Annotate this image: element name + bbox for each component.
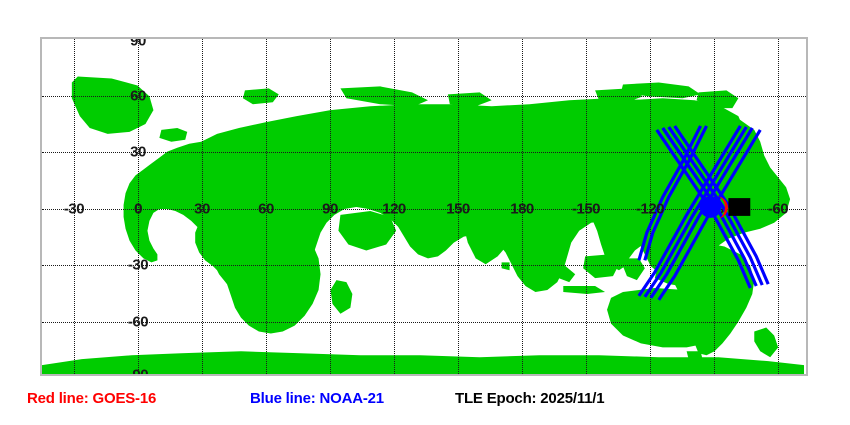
tick-lon-60: 60 — [258, 201, 274, 218]
greenland — [72, 77, 154, 134]
arctic-islands-russia — [340, 86, 428, 106]
landmass-layer — [42, 39, 806, 374]
tick-lon-120: 120 — [382, 201, 406, 218]
legend-tle-epoch: TLE Epoch: 2025/11/1 — [455, 390, 604, 407]
tick-lat--60: -60 — [128, 314, 148, 331]
legend-goes16: Red line: GOES-16 — [27, 390, 156, 407]
tick-lat-60: 60 — [130, 88, 146, 105]
tick-lon--150: -150 — [572, 201, 600, 218]
tick-lon--30: -30 — [64, 201, 84, 218]
tick-lon--90: -90 — [704, 201, 724, 218]
legend-noaa21: Blue line: NOAA-21 — [250, 390, 384, 407]
tick-lon-150: 150 — [446, 201, 470, 218]
tick-lon-30: 30 — [194, 201, 210, 218]
tick-lon--60: -60 — [768, 201, 788, 218]
tick-lat-90: 90 — [130, 37, 146, 50]
tick-lat--30: -30 — [128, 257, 148, 274]
svalbard — [243, 88, 279, 104]
iceland — [159, 128, 187, 142]
tick-lat--90: -90 — [128, 367, 148, 377]
hispaniola — [685, 233, 701, 239]
tick-lat-30: 30 — [130, 144, 146, 161]
new-zealand — [754, 328, 778, 358]
java — [563, 286, 605, 294]
hawaii — [599, 227, 605, 231]
tick-lon-180: 180 — [510, 201, 534, 218]
tick-lat-0: 0 — [134, 201, 142, 218]
severnaya-zemlya — [448, 92, 492, 106]
tick-lon--120: -120 — [636, 201, 664, 218]
legend: Red line: GOES-16 Blue line: NOAA-21 TLE… — [0, 390, 850, 420]
tick-lon-90: 90 — [322, 201, 338, 218]
india — [464, 215, 514, 264]
madagascar — [330, 280, 352, 314]
continents — [42, 77, 804, 374]
sri-lanka — [502, 262, 510, 270]
world-map: -30 0 30 60 90 120 150 180 -150 -120 -90… — [40, 37, 808, 376]
